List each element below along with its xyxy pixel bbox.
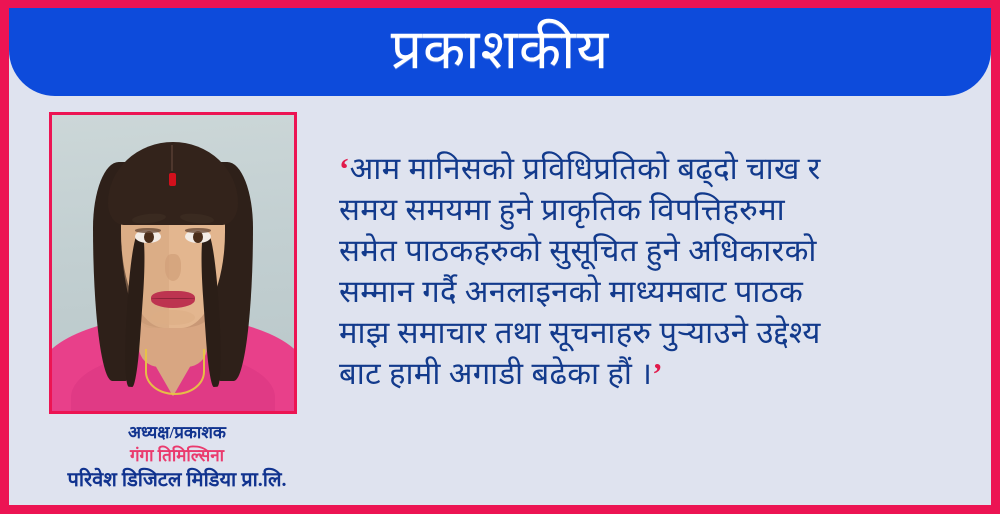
quote-line-6: बाट हामी अगाडी बढेका हौं ।’ bbox=[339, 353, 969, 394]
portrait-eyelid-left bbox=[135, 228, 162, 233]
caption-name: गंगा तिमिल्सिना bbox=[49, 446, 305, 467]
quote-line-1: ‘आम मानिसको प्रविधिप्रतिको बढ्दो चाख र bbox=[339, 148, 969, 189]
header-banner: प्रकाशकीय bbox=[9, 8, 991, 96]
quote-open-mark: ‘ bbox=[339, 151, 350, 186]
quote-line-5: माझ समाचार तथा सूचनाहरु पुऱ्याउने उद्देश… bbox=[339, 312, 969, 353]
caption-role: अध्यक्ष/प्रकाशक bbox=[49, 423, 305, 444]
quote-line-1-text: आम मानिसको प्रविधिप्रतिको बढ्दो चाख र bbox=[350, 151, 821, 186]
quote-close-mark: ’ bbox=[652, 356, 663, 391]
profile-block: अध्यक्ष/प्रकाशक गंगा तिमिल्सिना परिवेश ड… bbox=[49, 112, 305, 493]
portrait-necklace bbox=[145, 349, 205, 395]
publisher-message-poster: प्रकाशकीय bbox=[0, 0, 1000, 514]
caption-organization: परिवेश डिजिटल मिडिया प्रा.लि. bbox=[49, 468, 305, 492]
portrait-tika bbox=[169, 173, 176, 186]
content-area: अध्यक्ष/प्रकाशक गंगा तिमिल्सिना परिवेश ड… bbox=[9, 96, 991, 505]
portrait-nose bbox=[165, 254, 182, 281]
publisher-photo-frame bbox=[49, 112, 297, 414]
portrait-lip-line bbox=[151, 298, 195, 299]
quote-line-3: समेत पाठकहरुको सुसूचित हुने अधिकारको bbox=[339, 230, 969, 271]
portrait-lips bbox=[151, 291, 195, 308]
portrait-hair-parting bbox=[171, 145, 173, 172]
quote-line-6-text: बाट हामी अगाडी बढेका हौं । bbox=[339, 356, 652, 391]
quote-line-4: सम्मान गर्दै अनलाइनको माध्यमबाट पाठक bbox=[339, 271, 969, 312]
quote-line-2: समय समयमा हुने प्राकृतिक विपत्तिहरुमा bbox=[339, 189, 969, 230]
publisher-portrait-photo bbox=[52, 115, 294, 411]
publisher-quote: ‘आम मानिसको प्रविधिप्रतिको बढ्दो चाख र स… bbox=[339, 148, 969, 394]
publisher-caption: अध्यक्ष/प्रकाशक गंगा तिमिल्सिना परिवेश ड… bbox=[49, 423, 305, 493]
portrait-chin bbox=[151, 310, 195, 325]
portrait-eyelid-right bbox=[185, 228, 212, 233]
page-title: प्रकाशकीय bbox=[391, 22, 610, 83]
